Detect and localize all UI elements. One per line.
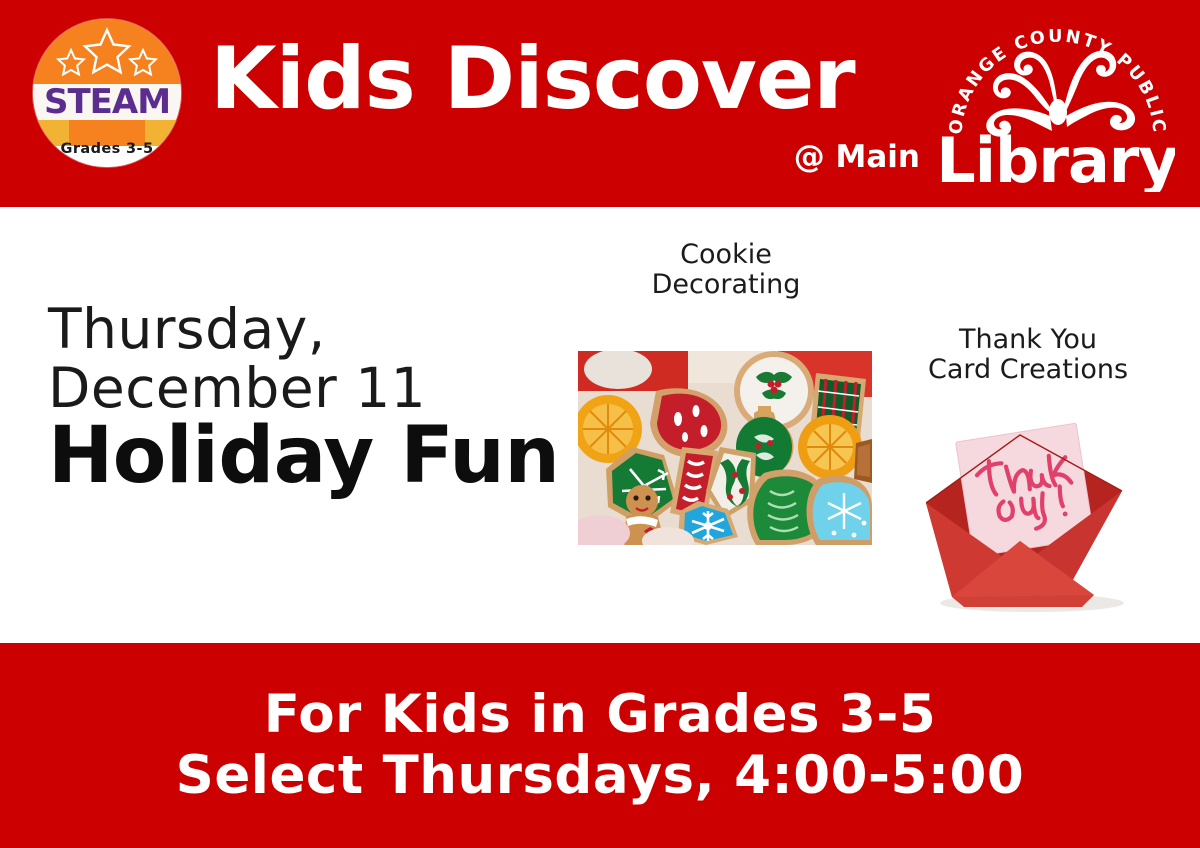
activity-cookie-decorating: Cookie Decorating (578, 240, 874, 300)
cookie-photo (578, 351, 872, 545)
envelope-caption-line-1: Thank You (900, 325, 1156, 355)
top-banner: STEAM Grades 3-5 Kids Discover @ Main OR… (0, 0, 1200, 207)
header-title-group: Kids Discover @ Main (200, 30, 940, 180)
date-line-2: December 11 (48, 359, 568, 418)
event-title: Holiday Fun (48, 417, 568, 497)
bottom-banner: For Kids in Grades 3-5 Select Thursdays,… (0, 643, 1200, 848)
envelope-caption: Thank You Card Creations (900, 325, 1156, 385)
steam-badge: STEAM Grades 3-5 (33, 19, 181, 167)
date-line-1: Thursday, (48, 300, 568, 359)
page-title: Kids Discover (210, 36, 855, 122)
envelope-caption-line-2: Card Creations (900, 355, 1156, 385)
date-block: Thursday, December 11 Holiday Fun (48, 300, 568, 496)
cookie-caption: Cookie Decorating (578, 240, 874, 300)
cookie-caption-line-2: Decorating (578, 270, 874, 300)
library-logo: ORANGE COUNTY PUBLIC Library (940, 12, 1175, 192)
body-area: Thursday, December 11 Holiday Fun Cookie… (0, 207, 1200, 643)
badge-grades-text: Grades 3-5 (33, 141, 181, 157)
logo-wordmark: Library (940, 124, 1175, 192)
page-subtitle: @ Main (794, 142, 920, 173)
footer-line-2: Select Thursdays, 4:00-5:00 (176, 746, 1025, 807)
footer-line-1: For Kids in Grades 3-5 (264, 685, 937, 746)
cookie-caption-line-1: Cookie (578, 240, 874, 270)
activity-thank-you-cards: Thank You Card Creations (900, 325, 1156, 385)
envelope-photo (908, 407, 1148, 615)
badge-steam-text: STEAM (33, 84, 181, 120)
badge-stars (33, 24, 181, 82)
